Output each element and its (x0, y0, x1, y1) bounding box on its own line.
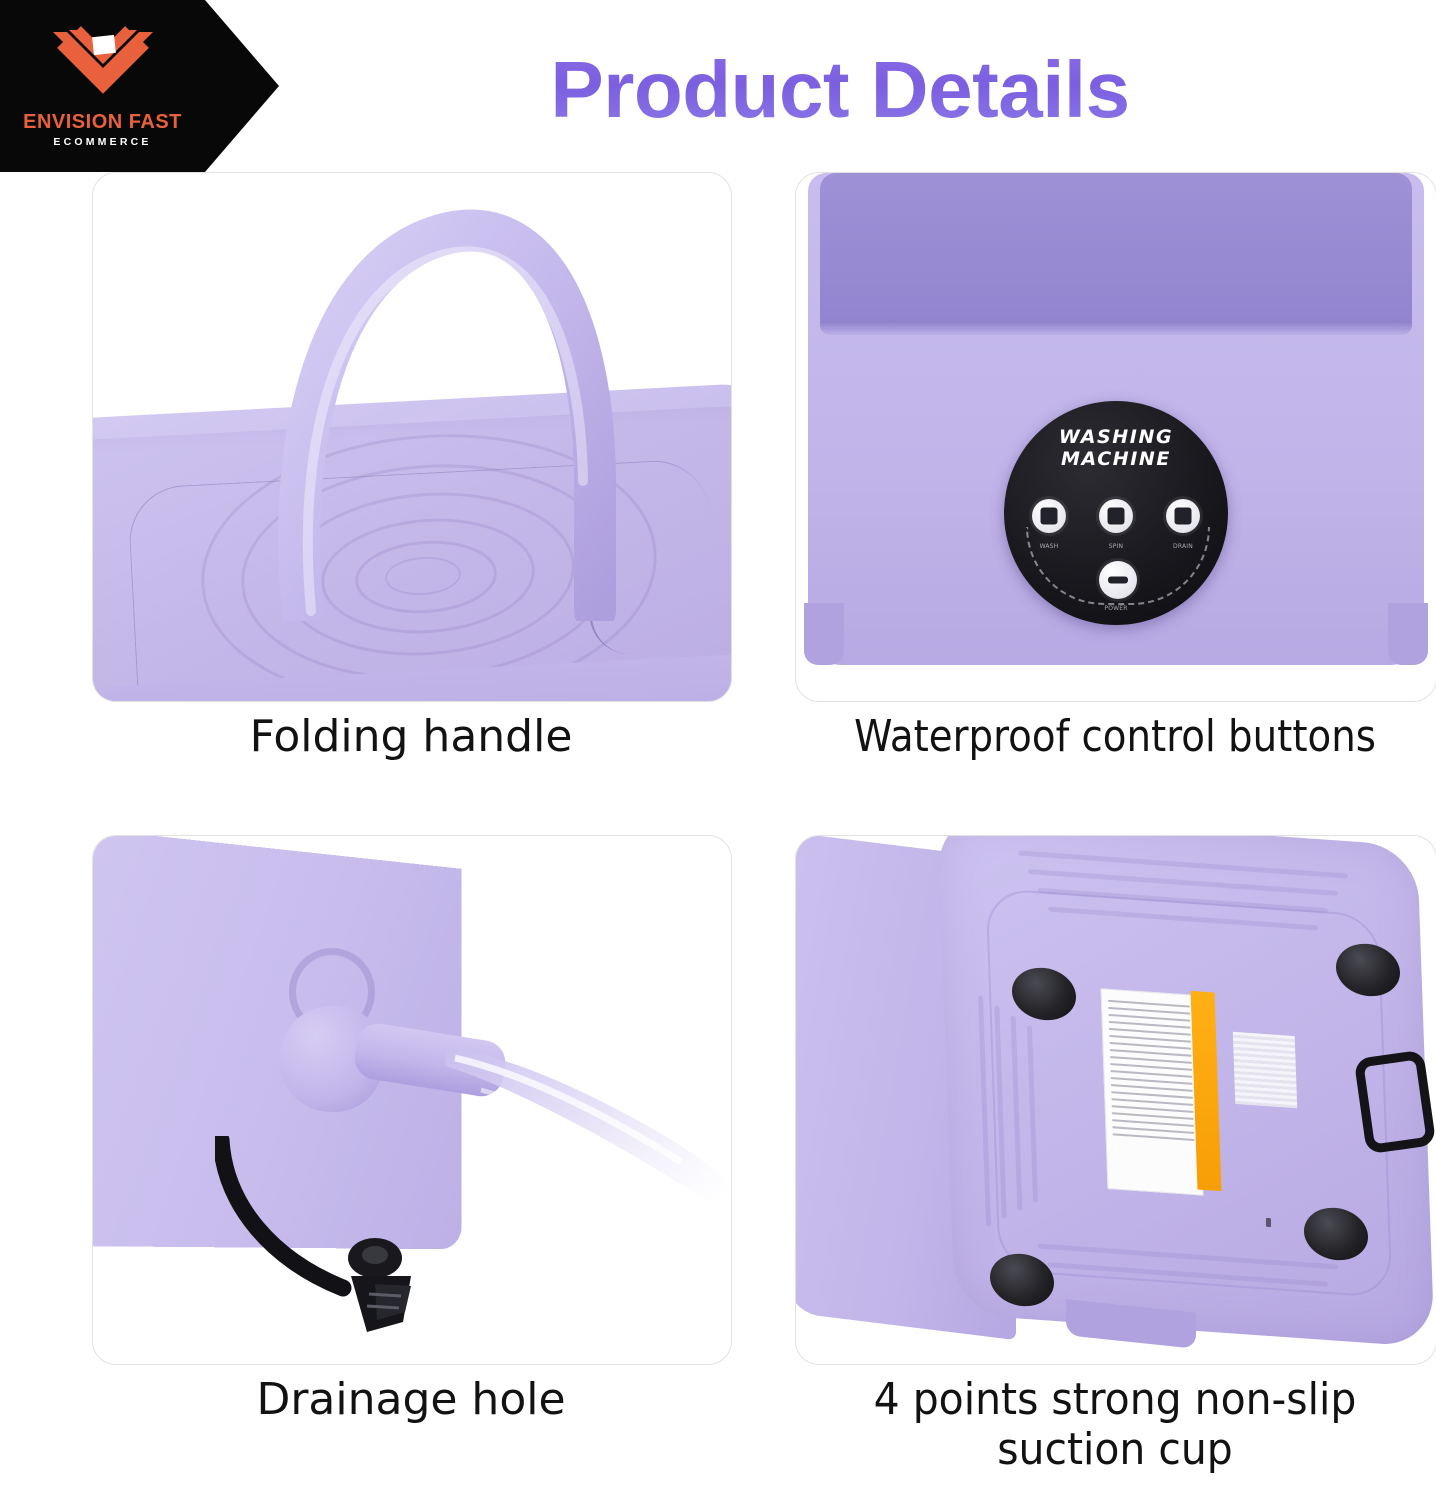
brand-subtitle: ECOMMERCE (53, 137, 151, 148)
rating-label (1101, 988, 1204, 1195)
caption-control-buttons: Waterproof control buttons (833, 712, 1396, 762)
control-panel-title: WASHING MACHINE (1004, 427, 1228, 471)
rating-label-lines (1108, 1000, 1195, 1146)
panel-title-line2: MACHINE (1061, 448, 1171, 470)
control-panel: WASHING MACHINE WASH SPIN DRAIN (1004, 401, 1228, 625)
folding-handle-icon (245, 181, 637, 621)
lid-edge (820, 321, 1412, 335)
power-icon (1108, 577, 1128, 584)
drain-hose-icon (215, 1136, 485, 1346)
foot-right (1388, 603, 1428, 665)
caption-folding-handle: Folding handle (92, 712, 730, 762)
photo-folding-handle (92, 172, 732, 702)
caption-suction-cup-line1: 4 points strong non-slip (874, 1374, 1357, 1425)
caption-suction-cup: 4 points strong non-slip suction cup (817, 1375, 1412, 1475)
power-label: POWER (1081, 605, 1151, 613)
drain-icon (1175, 508, 1192, 525)
wash-icon (1041, 508, 1058, 525)
foot-left (804, 603, 844, 665)
spin-icon (1108, 508, 1125, 525)
water-stream-icon (445, 1032, 732, 1232)
brand-name: ENVISION FAST (23, 112, 182, 132)
power-button[interactable] (1099, 561, 1137, 599)
panel-title-line1: WASHING (1059, 426, 1173, 448)
page-header: ENVISION FAST ECOMMERCE Product Details (0, 0, 1436, 172)
brand-banner: ENVISION FAST ECOMMERCE (0, 0, 280, 172)
page-title: Product Details (300, 38, 1380, 142)
rating-qr-patch (1233, 1032, 1297, 1109)
photo-drainage-hole (92, 835, 732, 1365)
photo-suction-cup (795, 835, 1436, 1365)
brand-lockup: ENVISION FAST ECOMMERCE (0, 0, 205, 172)
photo-control-buttons: WASHING MACHINE WASH SPIN DRAIN (795, 172, 1436, 702)
base-vent-slot (1266, 1218, 1271, 1228)
machine-lid (820, 173, 1412, 325)
caption-suction-cup-line2: suction cup (997, 1424, 1233, 1475)
cable-clip-icon (1354, 1050, 1436, 1155)
caption-drainage-hole: Drainage hole (92, 1375, 730, 1425)
details-grid: Folding handle WASHING MACHINE WASH (0, 172, 1436, 1500)
chevron-logo-icon (47, 24, 159, 110)
